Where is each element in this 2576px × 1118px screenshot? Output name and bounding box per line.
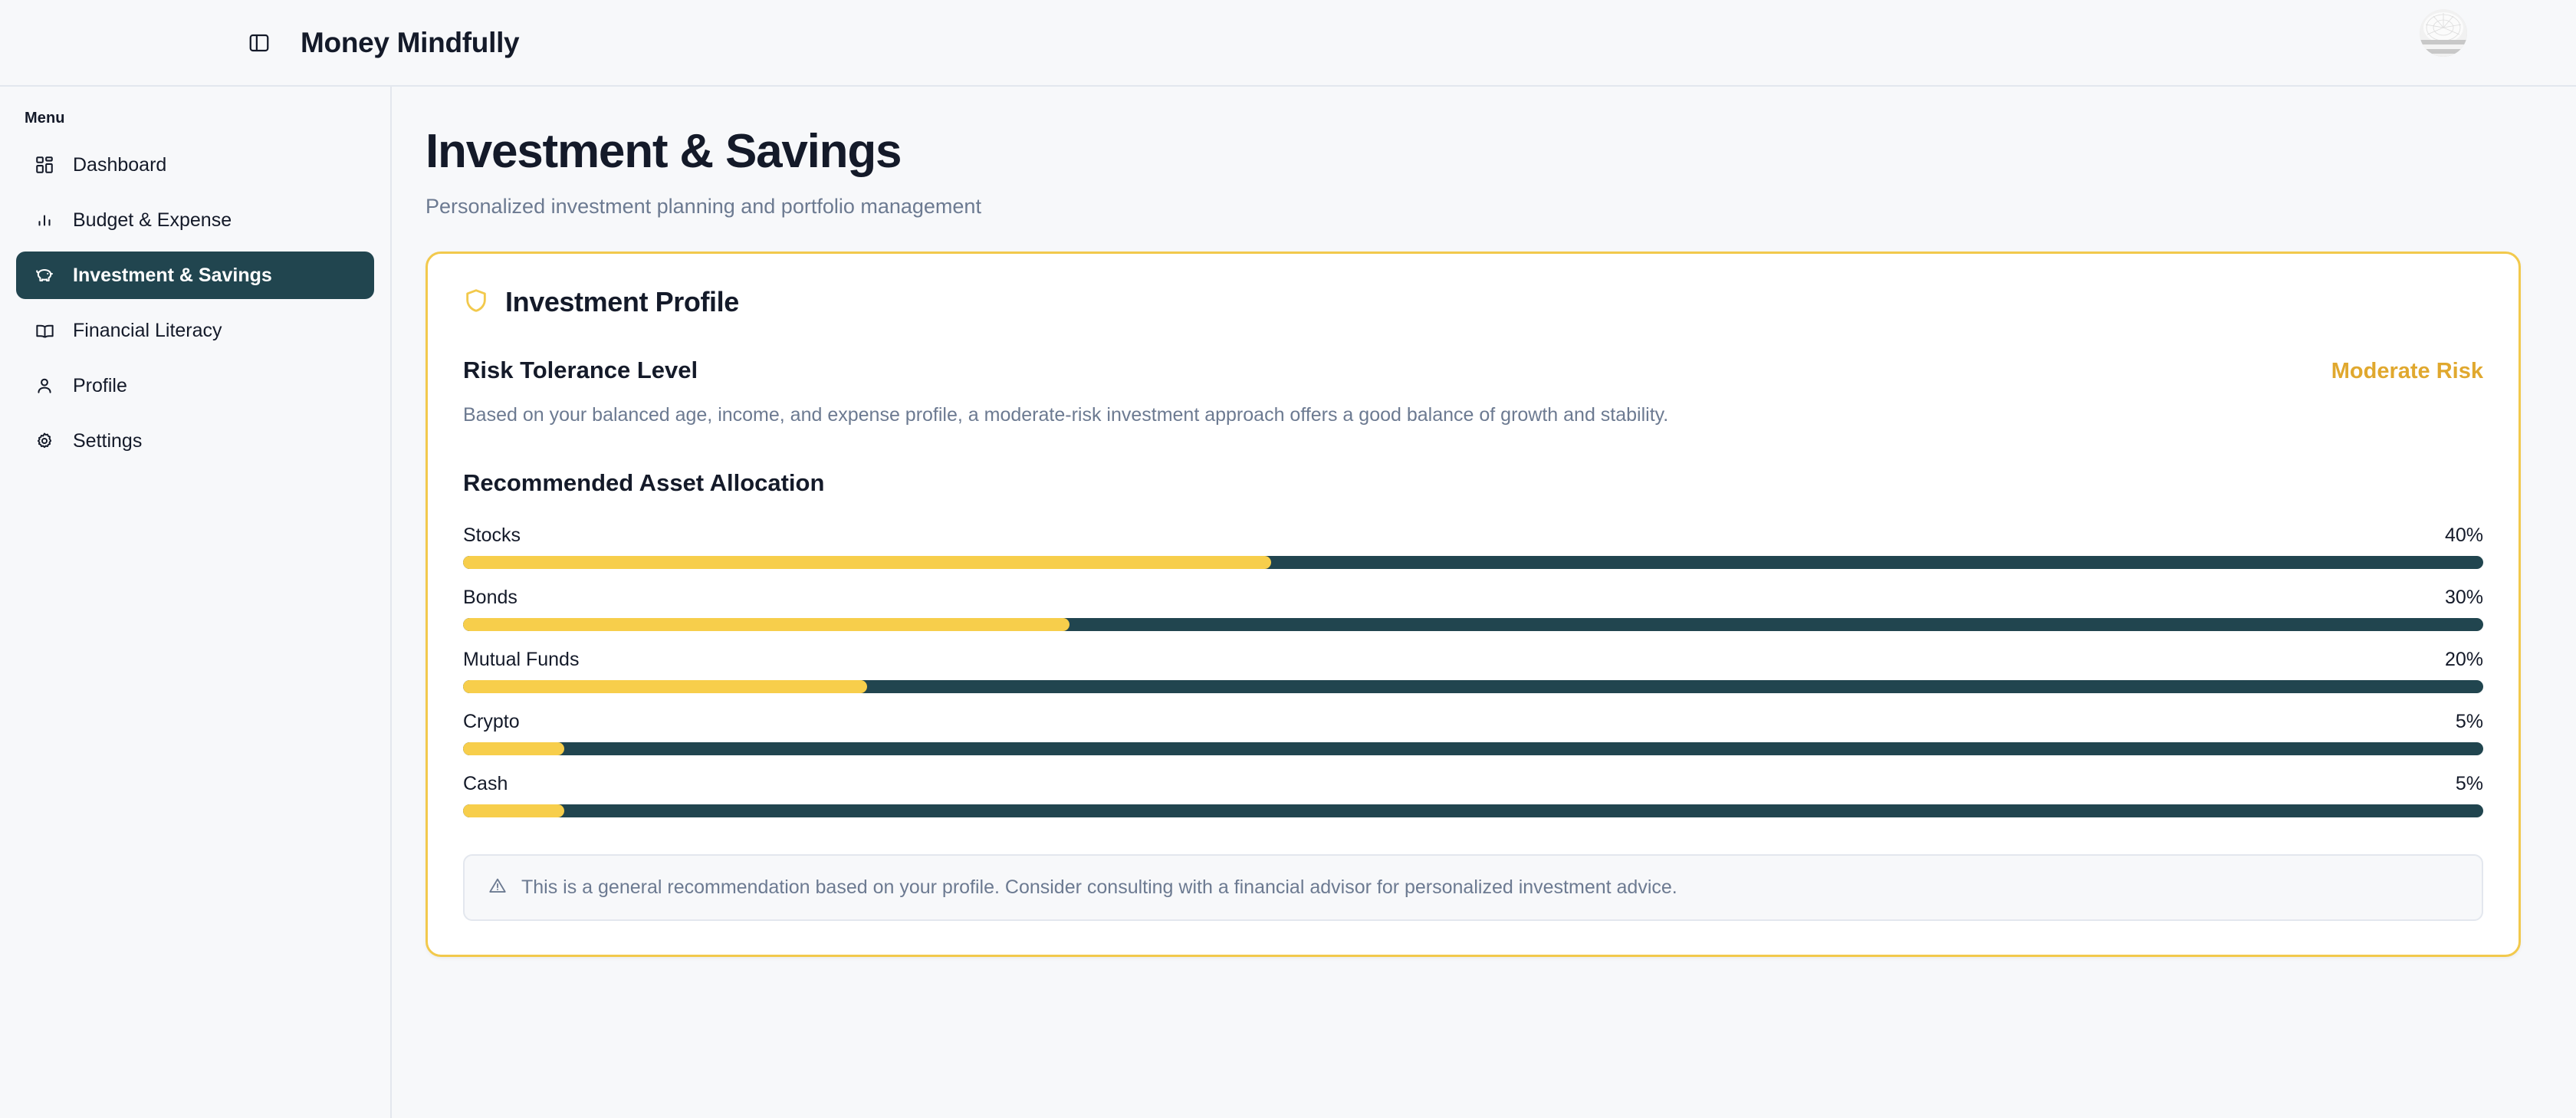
- asset-percent: 5%: [2456, 773, 2483, 795]
- risk-tolerance-heading: Risk Tolerance Level: [463, 357, 698, 384]
- sidebar-section-label: Menu: [25, 110, 390, 127]
- list-item: Stocks 40%: [463, 524, 2483, 569]
- asset-name: Cash: [463, 773, 508, 795]
- progress-fill: [463, 680, 867, 693]
- progress-track: [463, 742, 2483, 755]
- warning-triangle-icon: [488, 876, 508, 899]
- sidebar-item-financial-literacy[interactable]: Financial Literacy: [16, 307, 374, 354]
- sidebar-item-profile[interactable]: Profile: [16, 362, 374, 409]
- card-header: Investment Profile: [463, 286, 2483, 318]
- gear-icon: [33, 429, 56, 452]
- list-item: Crypto 5%: [463, 711, 2483, 755]
- asset-name: Mutual Funds: [463, 649, 579, 671]
- progress-fill: [463, 804, 564, 817]
- page-title: Investment & Savings: [426, 127, 2521, 176]
- asset-allocation-heading: Recommended Asset Allocation: [463, 469, 2483, 497]
- asset-allocation-list: Stocks 40% Bonds 30%: [463, 524, 2483, 817]
- list-item: Cash 5%: [463, 773, 2483, 817]
- asset-percent: 20%: [2445, 649, 2483, 671]
- investment-profile-card: Investment Profile Risk Tolerance Level …: [426, 252, 2521, 957]
- user-icon: [33, 374, 56, 397]
- sidebar: Menu Dashboard Budget & Expens: [0, 87, 392, 1118]
- disclaimer-text: This is a general recommendation based o…: [521, 876, 1677, 899]
- asset-name: Crypto: [463, 711, 520, 733]
- sidebar-item-label: Budget & Expense: [73, 209, 232, 232]
- asset-name: Bonds: [463, 587, 517, 609]
- list-item: Mutual Funds 20%: [463, 649, 2483, 693]
- sidebar-item-investment-savings[interactable]: Investment & Savings: [16, 252, 374, 299]
- shield-icon: [463, 288, 489, 317]
- top-header-bar: Money Mindfully: [0, 0, 2576, 87]
- sidebar-toggle-icon[interactable]: [244, 28, 274, 58]
- progress-fill: [463, 742, 564, 755]
- sidebar-item-label: Dashboard: [73, 154, 166, 176]
- sidebar-item-label: Settings: [73, 430, 142, 452]
- progress-track: [463, 556, 2483, 569]
- progress-track: [463, 618, 2483, 631]
- sidebar-item-label: Financial Literacy: [73, 320, 222, 342]
- status-badge: Moderate Risk: [2331, 359, 2483, 384]
- progress-fill: [463, 556, 1271, 569]
- grid-icon: [33, 153, 56, 176]
- asset-percent: 5%: [2456, 711, 2483, 733]
- book-icon: [33, 319, 56, 342]
- progress-track: [463, 680, 2483, 693]
- sidebar-item-settings[interactable]: Settings: [16, 417, 374, 465]
- progress-track: [463, 804, 2483, 817]
- page-subtitle: Personalized investment planning and por…: [426, 195, 2521, 219]
- disclaimer-notice: This is a general recommendation based o…: [463, 854, 2483, 921]
- asset-name: Stocks: [463, 524, 521, 547]
- sidebar-item-label: Profile: [73, 375, 127, 397]
- sidebar-item-label: Investment & Savings: [73, 265, 272, 287]
- progress-fill: [463, 618, 1069, 631]
- asset-percent: 30%: [2445, 587, 2483, 609]
- risk-tolerance-row: Risk Tolerance Level Moderate Risk: [463, 357, 2483, 384]
- list-item: Bonds 30%: [463, 587, 2483, 631]
- sidebar-item-budget-expense[interactable]: Budget & Expense: [16, 196, 374, 244]
- piggy-bank-icon: [33, 264, 56, 287]
- main-content: Investment & Savings Personalized invest…: [392, 87, 2576, 1118]
- sidebar-item-dashboard[interactable]: Dashboard: [16, 141, 374, 189]
- bar-chart-icon: [33, 209, 56, 232]
- risk-tolerance-description: Based on your balanced age, income, and …: [463, 403, 2483, 429]
- card-title: Investment Profile: [505, 286, 739, 318]
- app-title: Money Mindfully: [301, 27, 519, 59]
- asset-percent: 40%: [2445, 524, 2483, 547]
- avatar[interactable]: [2420, 9, 2467, 57]
